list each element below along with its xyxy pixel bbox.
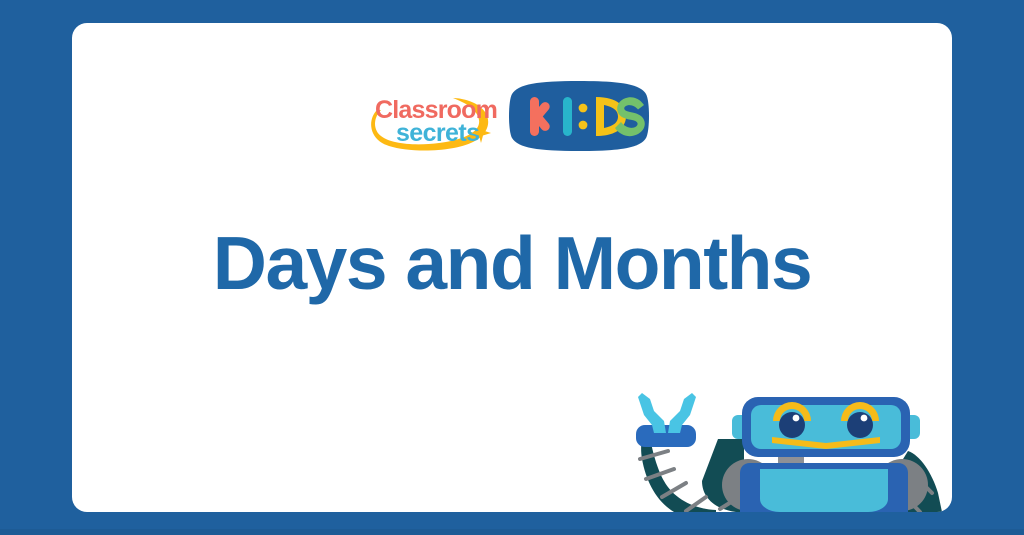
logo-word-secrets: secrets [396,120,479,146]
page-title: Days and Months [72,220,952,306]
kids-badge [508,80,650,152]
robot-torso [740,463,908,512]
robot-arm-cuff [636,425,696,447]
classroom-secrets-logo: Classroom secrets [367,96,497,154]
robot-mascot [620,389,952,512]
kids-letter-k [529,97,551,136]
kids-dot-bottom [579,121,588,130]
logo-star-icon [471,123,491,143]
robot-right-eye-highlight [861,415,868,422]
white-content-card: Classroom secrets [72,23,952,512]
logo-row: Classroom secrets [72,80,952,160]
robot-left-eye [779,412,805,438]
kids-dot-top [579,104,588,113]
kids-letter-i [563,97,572,136]
bottom-accent-band [0,529,1024,535]
robot-head [742,397,910,457]
kids-badge-letters [508,80,650,152]
slide-canvas: Classroom secrets [0,0,1024,535]
robot-right-eye [847,412,873,438]
robot-left-eye-highlight [793,415,800,422]
